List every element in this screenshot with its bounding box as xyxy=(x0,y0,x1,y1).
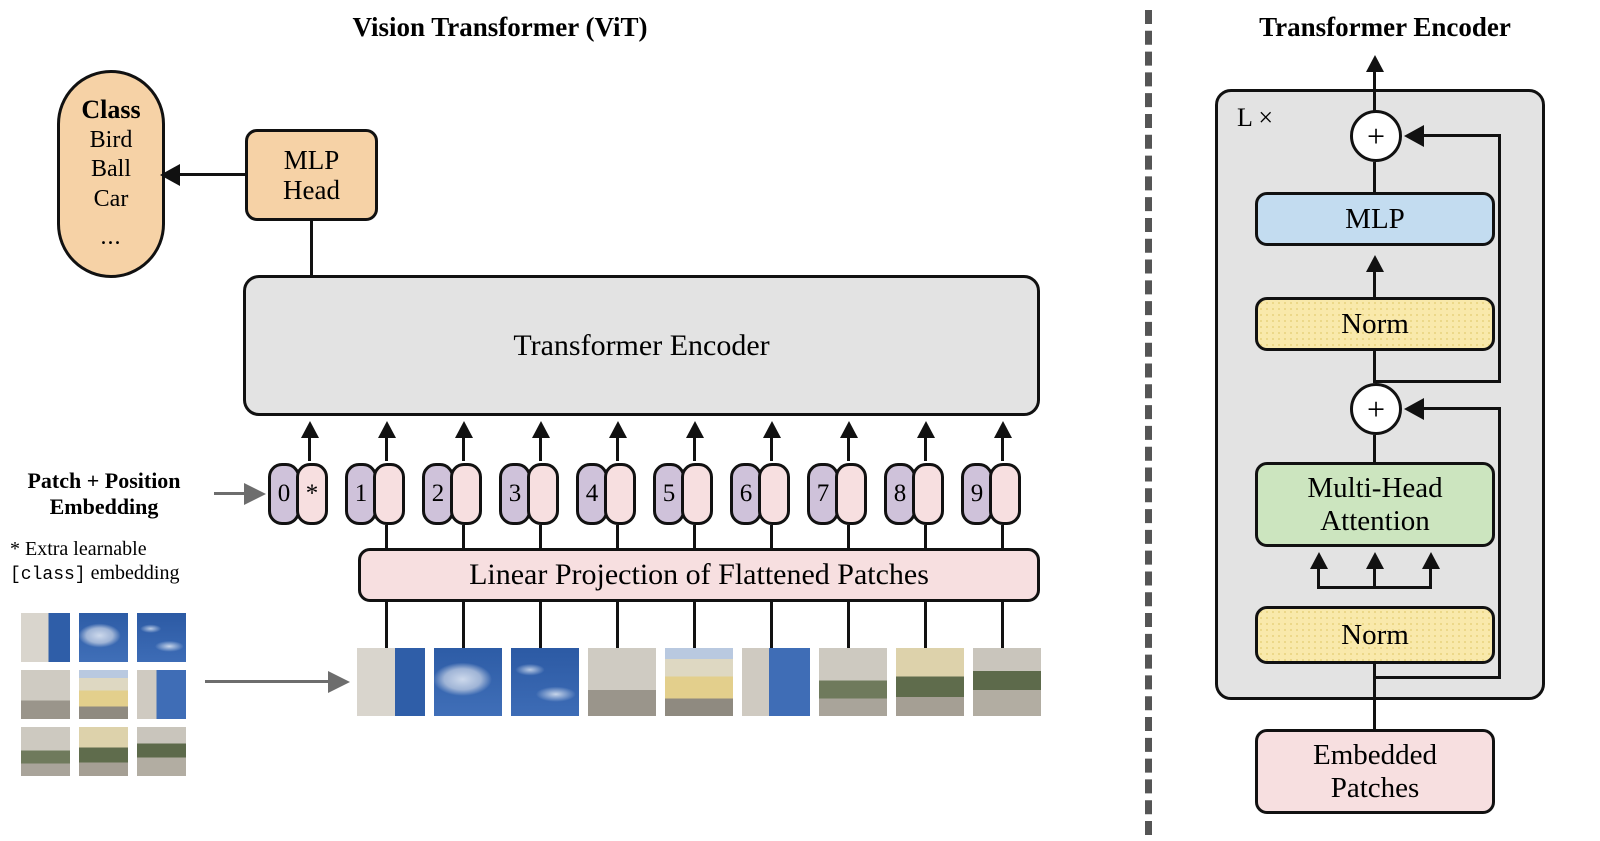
embedded-patches-block: Embedded Patches xyxy=(1255,729,1495,814)
token-arrow-7 xyxy=(840,421,858,438)
flat-patch-3 xyxy=(511,648,579,716)
multi-head-attention-block: Multi-Head Attention xyxy=(1255,462,1495,547)
flat-patch-6 xyxy=(742,648,810,716)
embedding-label-arrowhead xyxy=(244,483,266,505)
source-patch-r3c2 xyxy=(79,727,128,776)
source-image-grid xyxy=(0,0,49,49)
mlp-residual-vertical xyxy=(1498,136,1501,383)
token-arrow-stem-5 xyxy=(693,437,696,461)
mlp-residual-horizontal-bottom xyxy=(1373,380,1501,383)
proj-stem-1 xyxy=(385,525,388,550)
mlp-residual-horizontal-top xyxy=(1424,134,1501,137)
norm-block-top: Norm xyxy=(1255,297,1495,351)
flat-patch-2 xyxy=(434,648,502,716)
proj-stem-8 xyxy=(924,525,927,550)
patch-stem-7 xyxy=(847,602,850,648)
token-arrow-5 xyxy=(686,421,704,438)
token-arrow-6 xyxy=(763,421,781,438)
token-arrow-stem-6 xyxy=(770,437,773,461)
patch-stem-9 xyxy=(1001,602,1004,648)
mlp-head-line2: Head xyxy=(283,175,340,205)
token-patch-8 xyxy=(912,463,944,525)
norm-top-label: Norm xyxy=(1341,308,1409,340)
proj-stem-3 xyxy=(539,525,542,550)
transformer-encoder-box: Transformer Encoder xyxy=(243,275,1040,416)
attention-to-add-line xyxy=(1373,435,1376,463)
token-arrow-stem-4 xyxy=(616,437,619,461)
encoder-repeat-label: L × xyxy=(1237,103,1273,133)
footnote-tail: embedding xyxy=(86,562,180,584)
flat-patch-1 xyxy=(357,648,425,716)
figure-canvas: Vision Transformer (ViT) Transformer Enc… xyxy=(0,0,1600,841)
class-output-pill: Class Bird Ball Car ... xyxy=(57,70,165,278)
proj-stem-6 xyxy=(770,525,773,550)
qkv-stem-middle xyxy=(1373,569,1376,589)
token-arrow-stem-1 xyxy=(385,437,388,461)
qkv-stem-left xyxy=(1317,569,1320,589)
norm-top-to-mlp-arrowhead xyxy=(1366,255,1384,272)
source-patch-r3c1 xyxy=(21,727,70,776)
token-patch-2 xyxy=(450,463,482,525)
flat-patch-5 xyxy=(665,648,733,716)
mlp-residual-arrowhead xyxy=(1404,125,1424,147)
patch-stem-6 xyxy=(770,602,773,648)
patch-stem-4 xyxy=(616,602,619,648)
token-arrow-0 xyxy=(301,421,319,438)
attention-residual-horizontal-top xyxy=(1424,407,1501,410)
token-arrow-stem-3 xyxy=(539,437,542,461)
token-patch-1 xyxy=(373,463,405,525)
class-item-ball: Ball xyxy=(91,155,131,184)
token-arrow-2 xyxy=(455,421,473,438)
source-patch-r1c2 xyxy=(79,613,128,662)
source-patch-r1c1 xyxy=(21,613,70,662)
attention-line1: Multi-Head xyxy=(1307,472,1442,504)
mlp-to-class-arrowhead xyxy=(160,164,180,186)
class-item-bird: Bird xyxy=(90,126,133,155)
left-figure-title: Vision Transformer (ViT) xyxy=(280,12,720,43)
token-patch-7 xyxy=(835,463,867,525)
norm-bottom-label: Norm xyxy=(1341,619,1409,651)
patch-stem-8 xyxy=(924,602,927,648)
attention-residual-horizontal-bottom xyxy=(1373,676,1501,679)
right-figure-title: Transformer Encoder xyxy=(1180,12,1590,43)
mlp-head-box: MLP Head xyxy=(245,129,378,221)
proj-stem-5 xyxy=(693,525,696,550)
qkv-arrow-right xyxy=(1422,552,1440,569)
linear-projection-label: Linear Projection of Flattened Patches xyxy=(469,558,929,592)
source-patch-r1c3 xyxy=(137,613,186,662)
source-patch-r3c3 xyxy=(137,727,186,776)
token-arrow-9 xyxy=(994,421,1012,438)
embedding-label-line1: Patch + Position xyxy=(6,468,202,494)
footnote-line1: * Extra learnable xyxy=(10,537,240,561)
class-pill-header: Class xyxy=(81,95,140,124)
patch-stem-3 xyxy=(539,602,542,648)
mlp-to-add-line xyxy=(1373,162,1376,194)
mlp-to-encoder-line xyxy=(310,221,313,277)
flat-patch-9 xyxy=(973,648,1041,716)
flat-patch-8 xyxy=(896,648,964,716)
mlp-to-class-line xyxy=(178,173,246,176)
token-patch-9 xyxy=(989,463,1021,525)
source-patch-r2c1 xyxy=(21,670,70,719)
encoder-output-arrowhead xyxy=(1366,55,1384,72)
proj-stem-2 xyxy=(462,525,465,550)
token-patch-3 xyxy=(527,463,559,525)
linear-projection-bar: Linear Projection of Flattened Patches xyxy=(358,548,1040,602)
token-arrow-3 xyxy=(532,421,550,438)
norm-block-bottom: Norm xyxy=(1255,606,1495,664)
mlp-residual-down-stem xyxy=(1373,351,1376,383)
image-to-patches-arrowhead xyxy=(328,671,350,693)
panel-divider xyxy=(1145,10,1152,835)
class-item-ellipsis: ... xyxy=(101,224,122,251)
source-patch-r2c2 xyxy=(79,670,128,719)
token-arrow-stem-9 xyxy=(1001,437,1004,461)
token-arrow-stem-7 xyxy=(847,437,850,461)
image-to-patches-arrow-line xyxy=(205,680,330,683)
mlp-block-label: MLP xyxy=(1345,203,1405,235)
token-arrow-stem-0 xyxy=(308,437,311,461)
flat-patch-4 xyxy=(588,648,656,716)
source-patch-r2c3 xyxy=(137,670,186,719)
token-arrow-1 xyxy=(378,421,396,438)
patch-stem-2 xyxy=(462,602,465,648)
proj-stem-9 xyxy=(1001,525,1004,550)
norm-top-to-mlp-line xyxy=(1373,270,1376,298)
class-embedding-footnote: * Extra learnable [class] embedding xyxy=(10,537,240,587)
patch-stem-5 xyxy=(693,602,696,648)
class-item-car: Car xyxy=(94,185,129,214)
mlp-block: MLP xyxy=(1255,192,1495,246)
embedding-label-line2: Embedding xyxy=(6,494,202,520)
attention-line2: Attention xyxy=(1320,505,1430,537)
qkv-arrow-left xyxy=(1310,552,1328,569)
token-arrow-stem-8 xyxy=(924,437,927,461)
token-arrow-8 xyxy=(917,421,935,438)
qkv-stem-right xyxy=(1429,569,1432,589)
patch-position-embedding-label: Patch + Position Embedding xyxy=(6,468,202,519)
token-patch-0: * xyxy=(296,463,328,525)
patch-stem-1 xyxy=(385,602,388,648)
residual-add-bottom: + xyxy=(1350,383,1402,435)
transformer-encoder-label: Transformer Encoder xyxy=(513,329,769,363)
attention-residual-down-stem xyxy=(1373,664,1376,730)
footnote-line2: [class] embedding xyxy=(10,561,240,587)
embedding-label-arrow-line xyxy=(214,492,246,495)
mlp-head-line1: MLP xyxy=(284,145,340,175)
proj-stem-4 xyxy=(616,525,619,550)
flat-patch-7 xyxy=(819,648,887,716)
token-patch-6 xyxy=(758,463,790,525)
attention-residual-arrowhead xyxy=(1404,398,1424,420)
footnote-mono-token: [class] xyxy=(10,565,86,585)
token-arrow-stem-2 xyxy=(462,437,465,461)
proj-stem-7 xyxy=(847,525,850,550)
token-patch-4 xyxy=(604,463,636,525)
attention-residual-vertical xyxy=(1498,409,1501,679)
residual-add-top: + xyxy=(1350,110,1402,162)
qkv-arrow-middle xyxy=(1366,552,1384,569)
token-patch-5 xyxy=(681,463,713,525)
embedded-patches-line1: Embedded xyxy=(1313,739,1437,771)
embedded-patches-line2: Patches xyxy=(1331,772,1420,804)
token-arrow-4 xyxy=(609,421,627,438)
